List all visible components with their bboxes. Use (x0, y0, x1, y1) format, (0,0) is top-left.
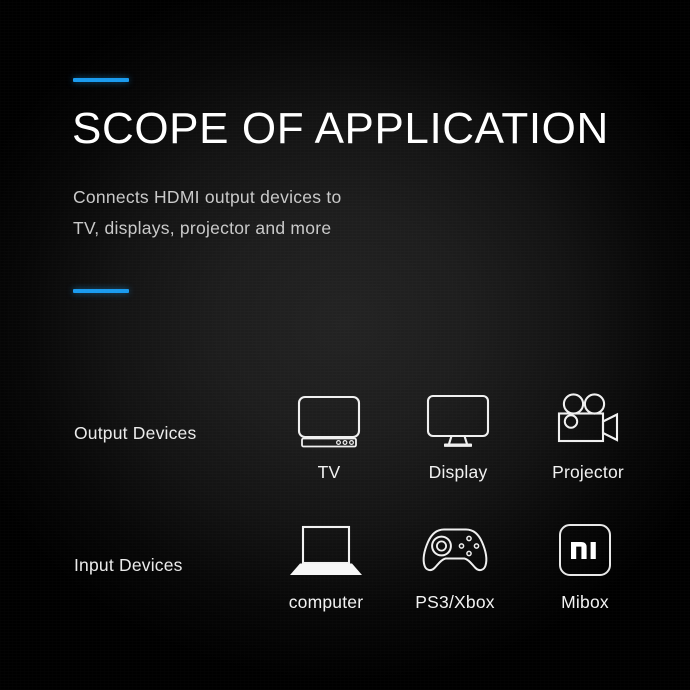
gamepad-icon (390, 522, 520, 584)
device-item-mibox: Mibox (520, 522, 650, 613)
device-caption: PS3/Xbox (390, 592, 520, 613)
page-title: SCOPE OF APPLICATION (72, 104, 609, 154)
subtitle-line-1: Connects HDMI output devices to (73, 182, 341, 213)
device-item-tv: TV (264, 392, 394, 483)
device-item-projector: Projector (523, 392, 653, 483)
input-devices-label: Input Devices (74, 555, 183, 576)
device-item-ps3-xbox: PS3/Xbox (390, 522, 520, 613)
monitor-icon (393, 392, 523, 454)
movie-camera-icon (523, 392, 653, 454)
device-caption: Mibox (520, 592, 650, 613)
device-item-computer: computer (261, 522, 391, 613)
subtitle-line-2: TV, displays, projector and more (73, 213, 341, 244)
output-devices-label: Output Devices (74, 423, 196, 444)
device-item-display: Display (393, 392, 523, 483)
subtitle: Connects HDMI output devices to TV, disp… (73, 182, 341, 244)
device-caption: TV (264, 462, 394, 483)
device-caption: Projector (523, 462, 653, 483)
accent-bar-top (73, 78, 129, 82)
laptop-icon (261, 522, 391, 584)
accent-bar-middle (73, 289, 129, 293)
tv-icon (264, 392, 394, 454)
device-caption: Display (393, 462, 523, 483)
device-caption: computer (261, 592, 391, 613)
scope-of-application-panel: SCOPE OF APPLICATION Connects HDMI outpu… (0, 0, 690, 690)
mi-logo-icon (520, 522, 650, 584)
